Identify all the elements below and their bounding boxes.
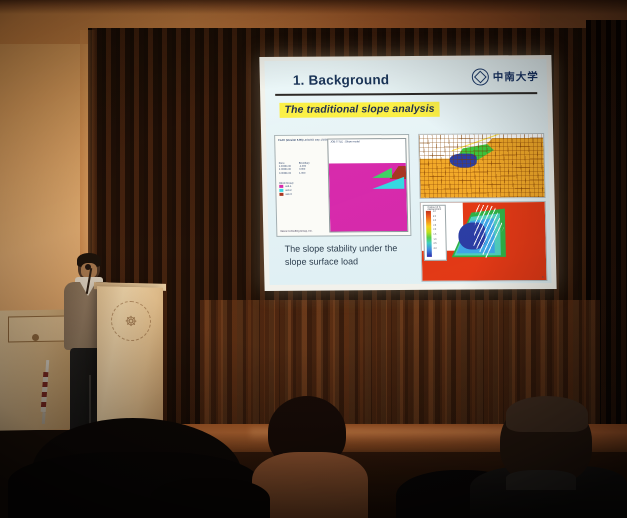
flac-plot-area: JOB TITLE : Slope model [327, 138, 408, 233]
flac-geometry-window: FLAC (Version 5.00) LEGEND step 15000 Zo… [274, 134, 411, 237]
flac-col-right-3: 1.000 [299, 171, 310, 174]
logo-emblem-icon [472, 68, 489, 85]
flac-header-line2: LEGEND [303, 139, 314, 142]
slide-caption-line2: slope surface load [285, 255, 435, 269]
flac-col-left: Zone 1.000E+00 2.000E+00 3.000E+00 [279, 162, 291, 175]
slide-title: 1. Background [293, 72, 390, 88]
legend-swatch-brown-icon [279, 192, 283, 195]
slide-highlight-text: The traditional slope analysis [279, 102, 439, 118]
legend-swatch-cyan-icon [279, 189, 283, 192]
podium-seal-glyph: ☸ [125, 314, 138, 328]
podium-seal-icon: ☸ [111, 301, 151, 342]
tick-0: 4.0 [433, 210, 436, 215]
flac-footer: Itasca Consulting Group, Inc. [280, 230, 312, 233]
conference-photo: 1. Background 中南大学 The traditional slope… [0, 0, 627, 518]
contour-displacement-window: Contour of X-displacement 4.0 3.5 3.0 2.… [420, 201, 548, 282]
logo-name-cn: 中南大学 [493, 69, 539, 84]
flac-block-legend: Block Group soil-1 soil-2 soil-3 [279, 182, 294, 196]
flac-legend-item-2: soil-3 [279, 192, 293, 196]
podium: ☸ [97, 286, 163, 429]
slide-caption: The slope stability under the slope surf… [285, 242, 436, 269]
university-logo: 中南大学 [472, 68, 539, 85]
flac-header-line1: FLAC (Version 5.00) [278, 139, 303, 142]
mesh-slope-window [418, 133, 545, 199]
flac-col-right: Boundary -1.000 0.000 1.000 [299, 162, 310, 175]
projection-screen: 1. Background 中南大学 The traditional slope… [259, 55, 556, 291]
tick-5: 1.5 [433, 233, 436, 238]
presentation-slide: 1. Background 中南大学 The traditional slope… [264, 59, 551, 285]
legend-swatch-magenta-icon [279, 185, 283, 188]
title-underline [275, 92, 537, 95]
audience-collar-3 [506, 470, 576, 490]
flac-plot-title: JOB TITLE : Slope model [330, 140, 359, 143]
slide-caption-line1: The slope stability under the [285, 242, 435, 256]
flac-col-left-3: 3.000E+00 [279, 171, 291, 174]
lectern-knob-icon [32, 334, 39, 341]
audience-hair-3 [506, 396, 588, 432]
slide-page-number: 3 [542, 276, 544, 279]
ceiling-shadow [0, 0, 627, 14]
flac-header-line3: step 15000 [315, 139, 328, 142]
audience-head-5 [150, 478, 270, 518]
logo-diamond-icon [474, 71, 487, 84]
